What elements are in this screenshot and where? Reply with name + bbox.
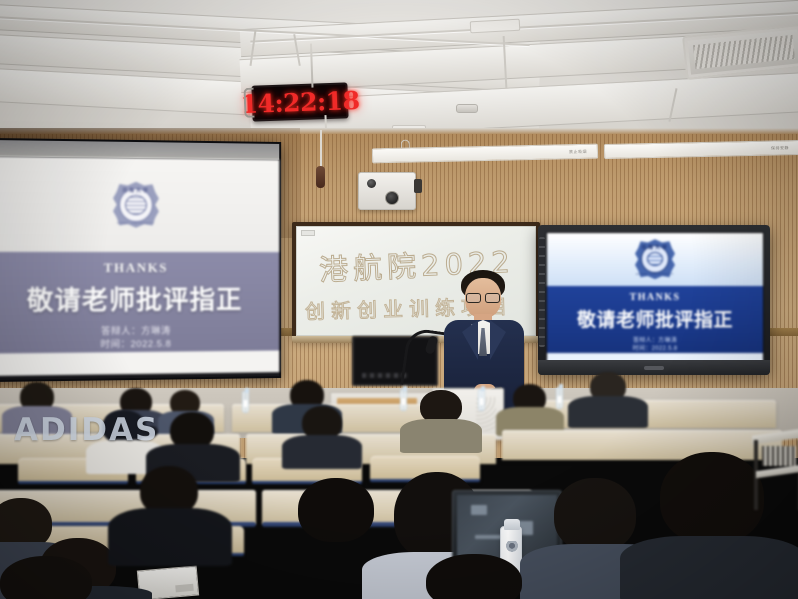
- indicator-icon: [367, 179, 376, 188]
- slide-upper-area: 河海大学 HOHAI UNIVERSITY: [0, 156, 279, 251]
- laptop-screen-icon: [471, 505, 487, 515]
- university-emblem-icon: 河海大学 HOHAI UNIVERSITY: [113, 182, 159, 228]
- camera-icon: [358, 172, 416, 210]
- slide-thanks-label: THANKS: [104, 260, 168, 276]
- lcd-power-button[interactable]: [644, 366, 664, 370]
- audience-member: [286, 406, 356, 464]
- slide-date-line: 时间：2022.5.8: [100, 338, 171, 352]
- emblem-cn-name: 河海大学: [635, 244, 675, 251]
- lcd-side-controls[interactable]: [539, 237, 545, 347]
- person-shoulders: [620, 536, 798, 599]
- water-bottle: [242, 391, 249, 413]
- jacket-logo-text: ADIDAS: [14, 412, 164, 448]
- person-shoulders: [282, 435, 362, 469]
- whiteboard-tag: [301, 230, 315, 236]
- lcd-slide: 河海大学 HOHAI UNIVERSITY THANKS 敬请老师批评指正 答辩…: [546, 232, 764, 359]
- university-emblem-icon: 河海大学 HOHAI UNIVERSITY: [635, 239, 675, 279]
- audience-member: [412, 554, 542, 599]
- slide-presenter-line: 答辩人：方琳涛: [100, 324, 171, 338]
- audience-member: [0, 556, 120, 599]
- stacked-items: [762, 446, 796, 466]
- bottle-label: [557, 396, 562, 403]
- side-table-shelf: [756, 465, 798, 478]
- person-head: [426, 554, 522, 599]
- smoke-detector: [456, 104, 478, 113]
- person-head: [0, 556, 92, 599]
- wall-banner: 禁止吸烟: [372, 144, 598, 164]
- clock-bracket: [243, 88, 254, 118]
- wall-banner-text: 保持安静: [771, 145, 789, 151]
- camera-mount: [414, 179, 422, 193]
- emblem-cn-name: 河海大学: [113, 187, 159, 194]
- thermos-decal: [504, 541, 520, 553]
- person-head: [298, 478, 374, 542]
- bottle-label: [479, 398, 484, 405]
- slide-band: THANKS 敬请老师批评指正 答辩人：方琳涛 时间：2022.5.8: [0, 251, 279, 353]
- wall-banner-text: 禁止吸烟: [569, 148, 587, 154]
- bottle-label: [243, 400, 248, 407]
- clock-body: 14:22:18: [251, 82, 348, 121]
- emblem-en-name: HOHAI UNIVERSITY: [635, 272, 675, 276]
- lcd-slide-upper: 河海大学 HOHAI UNIVERSITY: [547, 233, 763, 286]
- audience-member: [500, 384, 560, 430]
- lcd-presenter-line: 答辩人：方琳涛: [633, 337, 678, 345]
- projected-slide: 河海大学 HOHAI UNIVERSITY THANKS 敬请老师批评指正 答辩…: [0, 156, 279, 368]
- notebook-label: [175, 584, 194, 593]
- wall-banner: 保持安静: [604, 140, 798, 159]
- clock-time: 14:22:18: [240, 87, 360, 116]
- audience-member: [404, 390, 476, 450]
- person-shoulders: [108, 508, 232, 566]
- banner-hook: [401, 140, 410, 149]
- person-shoulders: [568, 396, 648, 428]
- camera-lens-icon: [385, 191, 399, 205]
- lcd-thanks-label: THANKS: [630, 292, 681, 303]
- slide-subtext: 答辩人：方琳涛 时间：2022.5.8: [100, 324, 171, 352]
- emblem-ring: [125, 195, 147, 215]
- hanging-microphone: [316, 166, 325, 188]
- thermos-cap: [504, 519, 520, 530]
- lcd-date-line: 时间：2022.5.8: [633, 345, 678, 353]
- slide-footer: [0, 351, 279, 377]
- slide-headline: 敬请老师批评指正: [27, 279, 243, 317]
- hanging-cable: [320, 130, 322, 168]
- left-projection-screen: 河海大学 HOHAI UNIVERSITY THANKS 敬请老师批评指正 答辩…: [0, 138, 281, 382]
- emblem-en-name: HOHAI UNIVERSITY: [113, 221, 159, 225]
- person-head: [554, 478, 636, 552]
- lcd-headline: 敬请老师批评指正: [577, 305, 733, 332]
- audience-member: [122, 466, 218, 562]
- audience-seating: ADIDAS: [0, 386, 798, 599]
- right-lcd-display[interactable]: 河海大学 HOHAI UNIVERSITY THANKS 敬请老师批评指正 答辩…: [538, 225, 770, 375]
- lcd-subtext: 答辩人：方琳涛 时间：2022.5.8: [633, 337, 678, 354]
- audience-member: [574, 372, 642, 424]
- glasses-icon: [466, 293, 500, 301]
- led-wall-clock: 14:22:18: [251, 82, 348, 121]
- water-bottle: [478, 389, 485, 411]
- lecture-hall-photo: 14:22:18 禁止吸烟 保持安静: [0, 0, 798, 599]
- lcd-bezel-controls[interactable]: [538, 360, 770, 375]
- person-head: [660, 452, 764, 544]
- side-table: [752, 432, 798, 512]
- person-shoulders: [400, 419, 482, 453]
- water-bottle: [556, 387, 563, 409]
- lcd-slide-band: THANKS 敬请老师批评指正 答辩人：方琳涛 时间：2022.5.8: [547, 286, 763, 354]
